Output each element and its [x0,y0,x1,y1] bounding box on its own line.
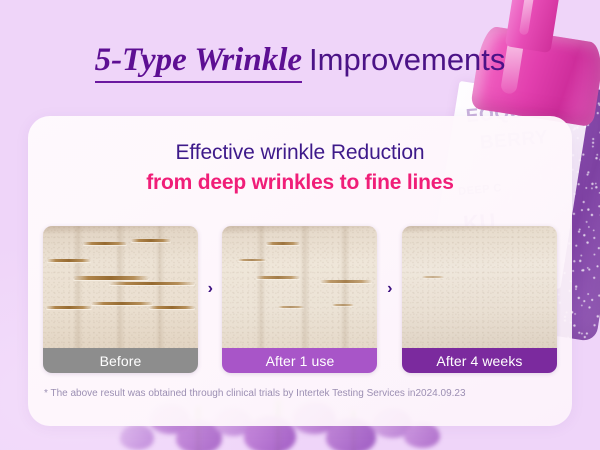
results-card: Effective wrinkle Reduction from deep wr… [28,116,572,426]
comparison-panel-after-1-use: After 1 use [222,226,377,373]
chevron-right-icon-2: › [386,281,393,297]
clinical-trial-footnote: * The above result was obtained through … [44,388,556,399]
skin-texture [402,226,557,348]
panel-caption-after-4-weeks: After 4 weeks [402,348,557,373]
panel-caption-before: Before [43,348,198,373]
advertisement-banner: EOQUA BERRY DEEP C KU Plu 5-Type Wrinkle… [0,0,600,450]
comparison-panels: Before › After 1 use [43,226,557,373]
comparison-panel-before: Before [43,226,198,373]
skin-photo-before [43,226,198,348]
card-title: Effective wrinkle Reduction [28,141,572,165]
page-title: 5-Type WrinkleImprovements [0,44,600,77]
skin-photo-after-4-weeks [402,226,557,348]
page-title-rest: Improvements [302,42,505,77]
skin-photo-after-1-use [222,226,377,348]
chevron-right-icon-1: › [207,281,214,297]
panel-caption-after-1-use: After 1 use [222,348,377,373]
comparison-panel-after-4-weeks: After 4 weeks [402,226,557,373]
page-title-emphasis: 5-Type Wrinkle [95,42,302,83]
card-subtitle: from deep wrinkles to fine lines [28,171,572,195]
